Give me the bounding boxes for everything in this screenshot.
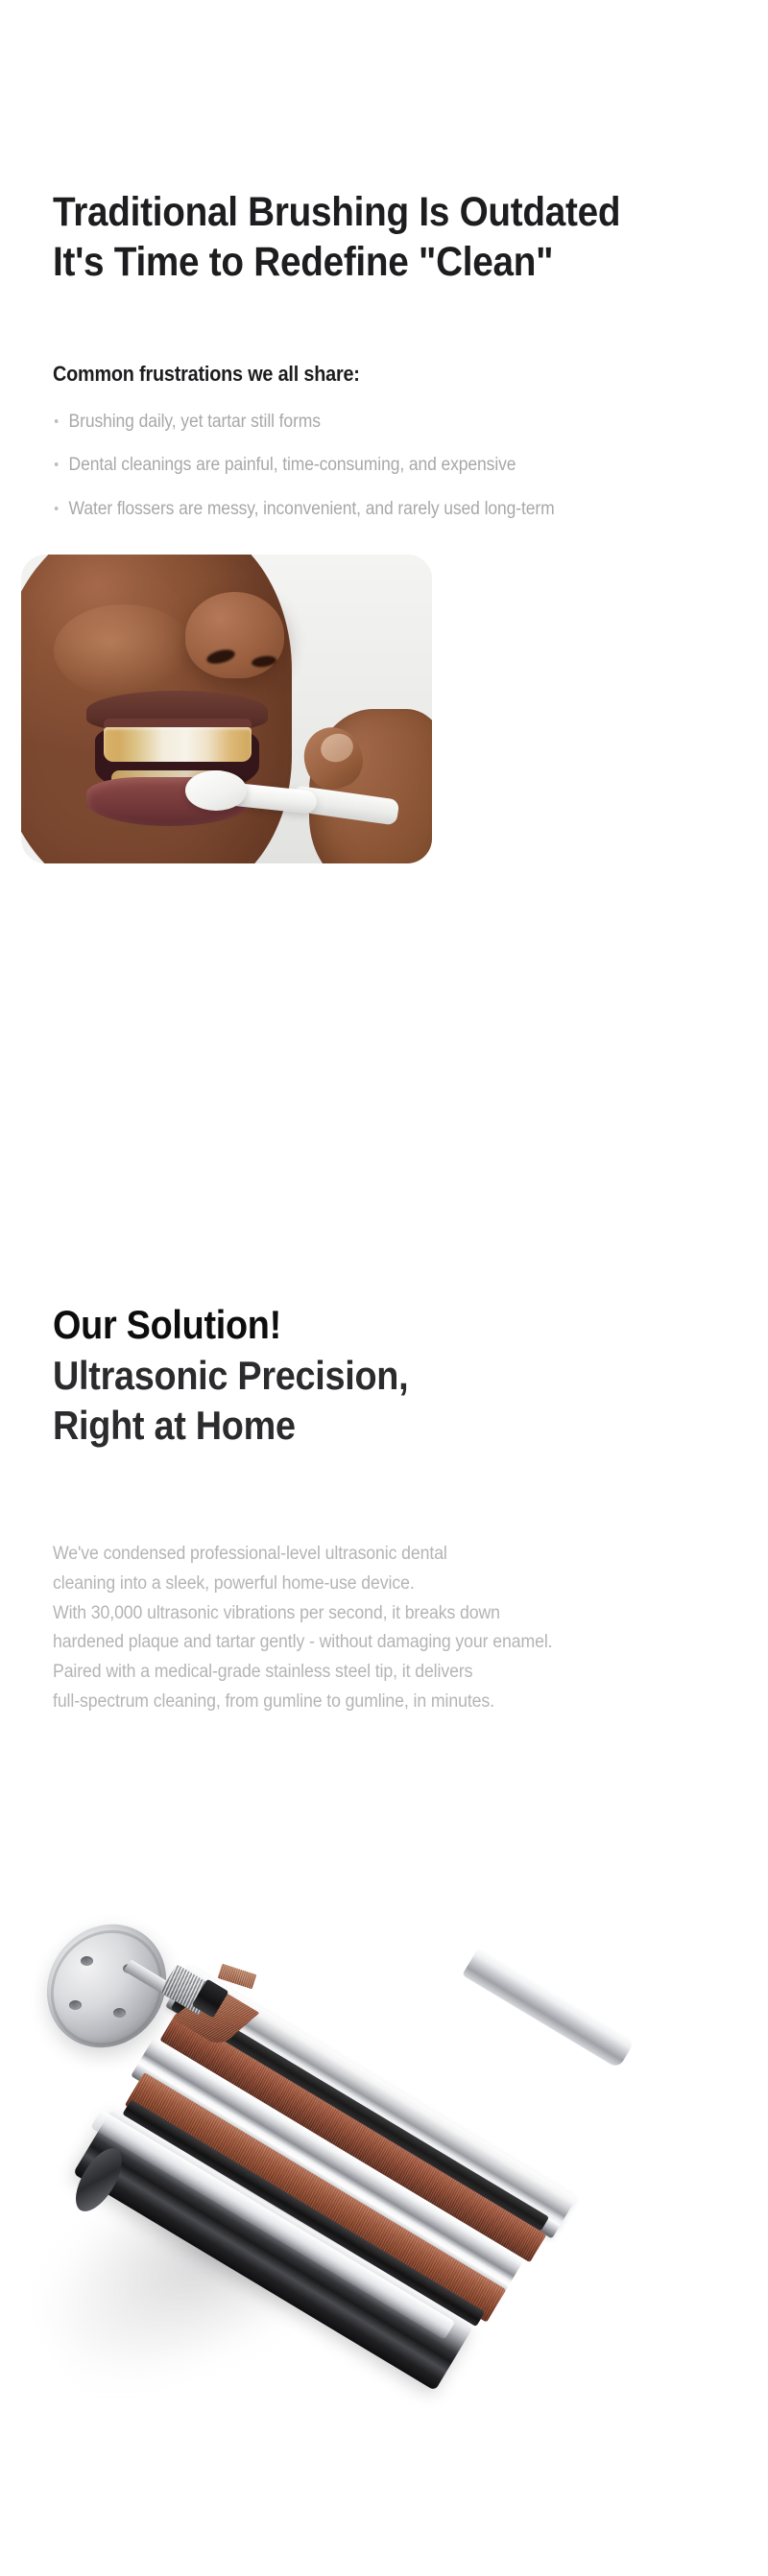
solution-title-line-3: Right at Home — [53, 1401, 658, 1452]
landing-page: Traditional Brushing Is Outdated It's Ti… — [0, 0, 768, 2576]
list-item-label: Dental cleanings are painful, time-consu… — [69, 455, 516, 475]
woman-brushing-teeth-photo — [21, 555, 432, 863]
product-flange-rim — [43, 1918, 170, 2058]
product-half-shell-cover — [462, 1947, 635, 2068]
product-flange-hole — [113, 2008, 126, 2018]
solution-title: Our Solution! Ultrasonic Precision, Righ… — [53, 1300, 658, 1452]
list-item: Water flossers are messy, inconvenient, … — [53, 498, 688, 521]
headline-line-2: It's Time to Redefine "Clean" — [53, 237, 658, 287]
photo-artwork — [21, 555, 432, 863]
list-item-label: Water flossers are messy, inconvenient, … — [69, 499, 555, 519]
list-item-label: Brushing daily, yet tartar still forms — [69, 412, 321, 432]
body-line-1: We've condensed professional-level ultra… — [53, 1540, 713, 1570]
solution-title-line-1: Our Solution! — [53, 1300, 658, 1351]
bullet-dot-icon — [55, 507, 59, 510]
list-item: Dental cleanings are painful, time-consu… — [53, 454, 688, 477]
body-line-2: cleaning into a sleek, powerful home-use… — [53, 1570, 713, 1599]
product-cutaway-render — [0, 1856, 768, 2470]
photo-upper-teeth-stained — [104, 727, 252, 761]
photo-cheek-highlight — [54, 604, 194, 697]
body-line-6: full-spectrum cleaning, from gumline to … — [53, 1688, 713, 1717]
product-flange-hole — [69, 2000, 82, 2010]
frustrations-label: Common frustrations we all share: — [53, 361, 360, 389]
solution-body-copy: We've condensed professional-level ultra… — [53, 1540, 713, 1717]
solution-title-line-2: Ultrasonic Precision, — [53, 1351, 658, 1402]
bullet-dot-icon — [55, 462, 59, 466]
page-headline: Traditional Brushing Is Outdated It's Ti… — [53, 187, 658, 288]
list-item: Brushing daily, yet tartar still forms — [53, 411, 688, 434]
product-flange-hole — [81, 1956, 93, 1966]
bullet-dot-icon — [55, 419, 59, 423]
frustrations-list: Brushing daily, yet tartar still forms D… — [53, 411, 744, 541]
body-line-4: hardened plaque and tartar gently - with… — [53, 1628, 713, 1658]
headline-line-1: Traditional Brushing Is Outdated — [53, 187, 658, 237]
product-artwork — [0, 1856, 768, 2470]
body-line-5: Paired with a medical-grade stainless st… — [53, 1658, 713, 1688]
body-line-3: With 30,000 ultrasonic vibrations per se… — [53, 1599, 713, 1629]
